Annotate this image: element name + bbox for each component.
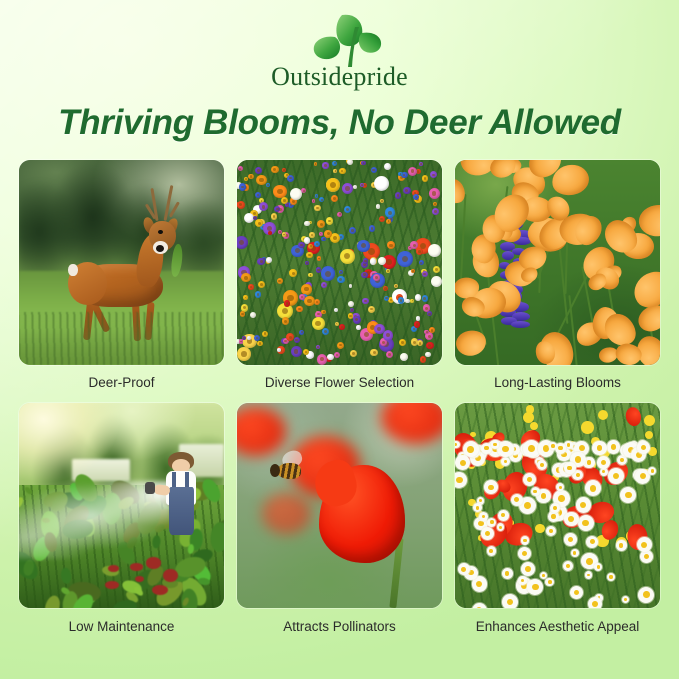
flower-blossom <box>431 276 442 287</box>
flower-blossom <box>321 310 325 314</box>
white-daisy <box>585 571 592 578</box>
flower-blossom <box>429 188 440 199</box>
flower-blossom <box>403 187 411 195</box>
flower-blossom <box>254 335 260 341</box>
flower-blossom <box>376 204 381 209</box>
white-daisy <box>592 441 606 455</box>
flower-blossom <box>425 352 430 357</box>
white-daisy <box>487 546 497 556</box>
flower-blossom <box>361 272 367 278</box>
flower-blossom <box>312 317 325 330</box>
flower-blossom <box>255 167 262 174</box>
flower-blossom <box>306 252 312 258</box>
flower-blossom <box>304 221 310 227</box>
honeybee <box>268 461 307 484</box>
flower-blossom <box>304 237 310 243</box>
image-diverse-flower-selection <box>237 160 442 365</box>
flower-blossom <box>415 294 421 300</box>
white-daisy <box>501 457 510 466</box>
lupine-floret <box>502 251 514 260</box>
flower-blossom <box>315 194 319 198</box>
flower-blossom <box>337 276 345 284</box>
brand-wordmark: Outsidepride <box>0 64 679 90</box>
image-long-lasting-blooms <box>455 160 660 365</box>
flower-blossom <box>322 162 328 168</box>
flower-blossom <box>422 271 428 277</box>
promo-infographic: Outsidepride Thriving Blooms, No Deer Al… <box>0 0 679 679</box>
white-daisy <box>571 549 579 557</box>
flower-blossom <box>353 316 361 324</box>
white-daisy <box>518 576 526 584</box>
flower-blossom <box>433 266 440 273</box>
flower-blossom <box>277 348 281 352</box>
flower-blossom <box>335 322 339 326</box>
flower-blossom <box>356 325 361 330</box>
flower-blossom <box>405 299 409 303</box>
flower-blossom <box>262 331 268 337</box>
white-daisy <box>600 468 608 476</box>
flower-blossom <box>268 231 272 235</box>
flower-blossom <box>422 295 429 302</box>
feature-card-long-lasting-blooms: Long-Lasting Blooms <box>455 160 660 403</box>
flower-blossom <box>349 227 356 234</box>
flower-blossom <box>410 299 414 303</box>
flower-blossom <box>247 336 251 340</box>
flower-blossom <box>370 349 378 357</box>
white-daisy <box>616 540 627 551</box>
flower-blossom <box>339 168 346 175</box>
flower-blossom <box>379 216 385 222</box>
flower-blossom <box>326 217 333 224</box>
flower-blossom <box>383 330 394 341</box>
flower-blossom <box>347 160 353 165</box>
flower-blossom <box>258 281 265 288</box>
foreground-grass <box>19 312 224 365</box>
flower-blossom <box>399 339 406 346</box>
flower-blossom <box>348 301 354 307</box>
white-daisy <box>564 462 576 474</box>
flower-blossom <box>374 176 389 191</box>
white-daisy <box>458 563 470 575</box>
white-daisy <box>479 512 488 521</box>
white-daisy <box>586 536 598 548</box>
white-daisy <box>491 440 500 449</box>
flower-blossom <box>256 175 266 185</box>
gardener-figure <box>158 452 203 567</box>
flower-blossom <box>400 353 408 361</box>
feature-card-enhances-aesthetic-appeal: Enhances Aesthetic Appeal <box>455 403 660 647</box>
flower-blossom <box>266 257 272 263</box>
flower-blossom <box>371 167 377 173</box>
flower-blossom <box>271 166 279 174</box>
flower-blossom <box>317 354 328 365</box>
white-daisy <box>502 594 518 608</box>
flower-blossom <box>432 208 439 215</box>
flower-blossom <box>361 161 365 165</box>
white-daisy <box>637 441 650 454</box>
image-attracts-pollinators <box>237 403 442 608</box>
white-daisy <box>540 572 547 579</box>
white-daisy <box>487 518 496 527</box>
white-daisy <box>638 587 654 603</box>
feature-card-low-maintenance: Low Maintenance <box>19 403 224 647</box>
flower-blossom <box>319 232 323 236</box>
white-daisy <box>521 536 530 545</box>
flower-blossom <box>317 256 321 260</box>
flower-blossom <box>282 232 287 237</box>
brand-logo: Outsidepride <box>0 0 679 90</box>
feature-card-diverse-flower-selection: Diverse Flower Selection <box>237 160 442 403</box>
white-daisy <box>502 568 513 579</box>
feature-card-attracts-pollinators: Attracts Pollinators <box>237 403 442 647</box>
flower-blossom <box>321 282 327 288</box>
flower-blossom <box>303 349 309 355</box>
flower-blossom <box>239 183 246 190</box>
feature-card-deer-proof: Deer-Proof <box>19 160 224 403</box>
flower-blossom <box>237 201 245 209</box>
caption-low-maintenance: Low Maintenance <box>19 608 224 647</box>
flower-blossom <box>277 278 283 284</box>
yellow-bloom <box>645 431 653 439</box>
flower-blossom <box>237 236 248 248</box>
flower-blossom <box>370 258 376 264</box>
caption-attracts-pollinators: Attracts Pollinators <box>237 608 442 647</box>
flower-blossom <box>420 356 426 362</box>
image-enhances-aesthetic-appeal <box>455 403 660 608</box>
flower-blossom <box>298 242 304 248</box>
flower-blossom <box>248 284 253 289</box>
page-title: Thriving Blooms, No Deer Allowed <box>0 103 679 143</box>
flower-blossom <box>243 295 247 299</box>
flower-blossom <box>296 306 302 312</box>
yellow-bloom <box>581 421 594 434</box>
yellow-bloom <box>530 422 538 430</box>
flower-blossom <box>368 306 375 313</box>
white-daisy <box>511 494 524 507</box>
flower-blossom <box>290 188 302 200</box>
white-daisy <box>588 597 602 608</box>
white-daisy <box>564 533 577 546</box>
blurred-poppy <box>262 493 311 534</box>
flower-blossom <box>340 249 355 264</box>
caption-enhances-aesthetic-appeal: Enhances Aesthetic Appeal <box>455 608 660 647</box>
flower-blossom <box>284 300 290 306</box>
flower-blossom <box>398 172 403 177</box>
flower-blossom <box>378 257 386 265</box>
flower-blossom <box>369 225 375 231</box>
flower-blossom <box>324 230 331 237</box>
yellow-bloom <box>644 415 655 426</box>
flower-blossom <box>426 342 434 350</box>
flower-blossom <box>357 240 370 253</box>
flower-blossom <box>408 167 417 176</box>
flower-blossom <box>339 270 343 274</box>
flower-blossom <box>398 297 405 304</box>
leaf-sprig-icon <box>292 11 388 67</box>
flower-blossom <box>237 347 250 360</box>
flower-blossom <box>238 166 243 171</box>
caption-long-lasting-blooms: Long-Lasting Blooms <box>455 365 660 403</box>
feature-grid: Deer-Proof Diverse Flower Selection Long… <box>19 160 660 647</box>
flower-blossom <box>334 308 338 312</box>
flower-blossom <box>316 267 321 272</box>
white-daisy <box>564 512 578 526</box>
flower-blossom <box>395 192 402 199</box>
flower-blossom <box>299 330 304 335</box>
white-daisy <box>498 510 509 521</box>
white-daisy <box>578 515 594 531</box>
flower-blossom <box>386 269 390 273</box>
flower-blossom <box>308 244 313 249</box>
image-low-maintenance <box>19 403 224 608</box>
white-daisy <box>576 497 592 513</box>
image-deer-proof <box>19 160 224 365</box>
white-daisy <box>484 480 498 494</box>
flower-blossom <box>239 339 243 343</box>
flower-blossom <box>397 251 413 267</box>
flower-blossom <box>291 346 302 357</box>
flower-blossom <box>301 284 312 295</box>
caption-deer-proof: Deer-Proof <box>19 365 224 403</box>
flower-blossom <box>333 169 337 173</box>
flower-blossom <box>287 175 294 182</box>
caption-diverse-flower-selection: Diverse Flower Selection <box>237 365 442 403</box>
lupine-floret <box>511 321 530 328</box>
white-daisy <box>570 586 583 599</box>
flower-blossom <box>271 213 278 220</box>
flower-blossom <box>363 258 369 264</box>
flower-blossom <box>428 244 441 257</box>
flower-blossom <box>331 195 338 202</box>
white-daisy <box>563 561 573 571</box>
flower-blossom <box>257 258 264 265</box>
flower-blossom <box>282 317 289 324</box>
flower-blossom <box>337 342 344 349</box>
flower-blossom <box>422 175 428 181</box>
flower-blossom <box>289 269 296 276</box>
flower-blossom <box>309 232 314 237</box>
flower-blossom <box>241 273 251 283</box>
flower-blossom <box>257 341 263 347</box>
flower-blossom <box>339 324 345 330</box>
flower-blossom <box>414 321 420 327</box>
flower-blossom <box>322 328 329 335</box>
white-daisy <box>597 456 610 469</box>
flower-blossom <box>386 219 391 224</box>
flower-blossom <box>419 162 423 166</box>
